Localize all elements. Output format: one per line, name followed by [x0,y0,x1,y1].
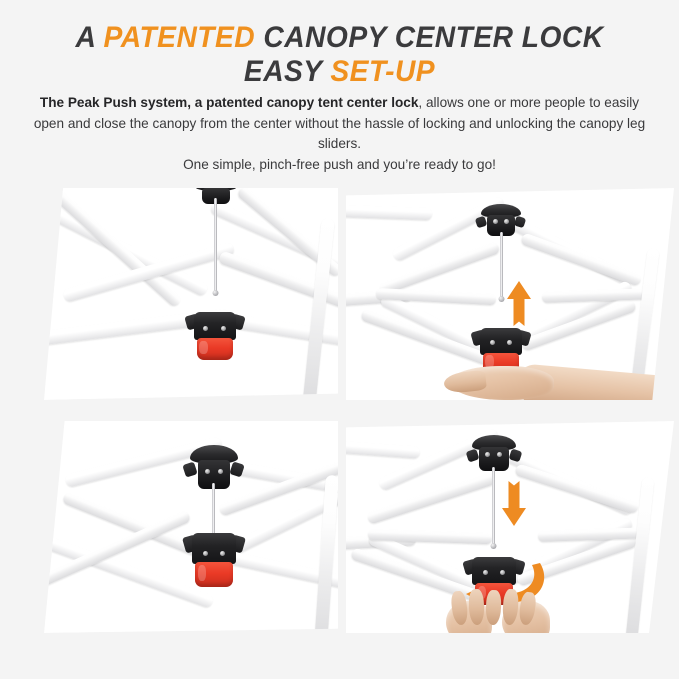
hands-gripping [446,589,566,633]
center-lock [192,533,236,587]
lock-red-collar [195,562,234,587]
hub-wing-left [475,216,488,228]
arrow-up-icon [506,280,532,328]
push-rod-tip [499,296,505,302]
lock-rivet [507,340,512,345]
hub-rivet [497,452,502,457]
hub-wing-left [183,462,199,478]
infographic-page: A PATENTED CANOPY CENTER LOCK EASY SET-U… [0,0,679,679]
frame-tube [62,242,235,303]
finger [485,590,501,626]
description-final-line: One simple, pinch-free push and you’re r… [183,157,496,172]
headline-text-a: A [75,21,103,54]
lock-rivet [203,551,208,556]
hub-rivet [218,469,223,474]
headline-accent-setup: SET-UP [330,55,435,88]
hub-rivet [504,219,509,224]
photo-panel-1 [44,188,338,400]
frame-tube [520,232,643,286]
lock-black-body [192,533,236,564]
photo-panel-4 [346,421,679,633]
lock-black-body [480,328,522,355]
canopy-frame-scene-3 [44,421,338,633]
lock-rivet [483,570,488,575]
hub-wing-left [465,449,479,463]
finger [468,589,484,626]
push-rod [500,232,503,298]
canopy-frame-scene-2 [346,188,679,400]
push-rod-tip [213,290,219,296]
canopy-top-hub [472,435,516,471]
frame-tube [314,475,338,633]
description-bold-lead: The Peak Push system, a patented canopy … [40,95,419,110]
lock-rivet [490,340,495,345]
lock-rivet [203,326,208,331]
frame-tube [514,463,639,514]
lock-red-collar [197,338,234,360]
lock-black-body [194,312,236,340]
lock-rivet [500,570,505,575]
push-rod [492,467,495,545]
frame-tube [346,439,420,459]
headline-text-easy: EASY [244,55,330,88]
headline-text-b: CANOPY CENTER LOCK [255,21,603,54]
canopy-frame-scene-1 [44,188,338,400]
hand-open-palm [442,364,672,400]
lock-black-body [472,557,516,585]
canopy-frame-scene-4 [346,421,679,633]
hub-rivet [493,219,498,224]
page-title: A PATENTED CANOPY CENTER LOCK EASY SET-U… [20,21,658,89]
description-paragraph: The Peak Push system, a patented canopy … [33,93,646,175]
headline-line-2: EASY SET-UP [20,55,658,89]
push-rod [212,483,215,539]
center-lock [194,312,236,360]
lock-rivet [221,326,226,331]
hub-rivet [485,452,490,457]
arrow-down-icon [501,479,527,527]
push-rod [214,198,217,292]
photo-panel-2 [346,188,679,400]
photo-grid [0,180,679,670]
hub-rivet [205,469,210,474]
headline-accent-patented: PATENTED [104,21,256,54]
push-rod-tip [491,543,497,549]
photo-panel-3 [44,421,338,633]
frame-tube [346,204,432,220]
lock-rivet [220,551,225,556]
headline-line-1: A PATENTED CANOPY CENTER LOCK [20,21,658,55]
